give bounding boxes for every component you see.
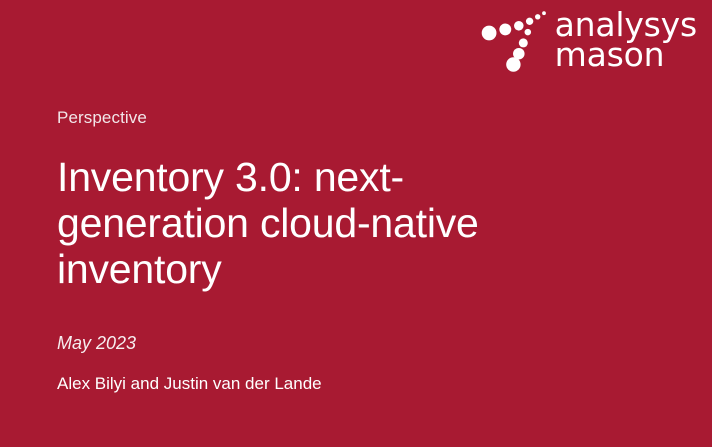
- brand-logo: analysys mason: [481, 6, 697, 82]
- page-title: Inventory 3.0: next-generation cloud-nat…: [57, 155, 487, 293]
- cover-slide: analysys mason Perspective Inventory 3.0…: [0, 0, 712, 447]
- cover-text-block: Perspective Inventory 3.0: next-generati…: [57, 108, 657, 394]
- document-type-label: Perspective: [57, 108, 657, 128]
- analysys-mason-dots-icon: [481, 6, 553, 78]
- authors-line: Alex Bilyi and Justin van der Lande: [57, 374, 657, 394]
- brand-wordmark: analysys mason: [555, 10, 697, 71]
- brand-wordmark-line-2: mason: [555, 40, 697, 70]
- publication-date: May 2023: [57, 333, 657, 355]
